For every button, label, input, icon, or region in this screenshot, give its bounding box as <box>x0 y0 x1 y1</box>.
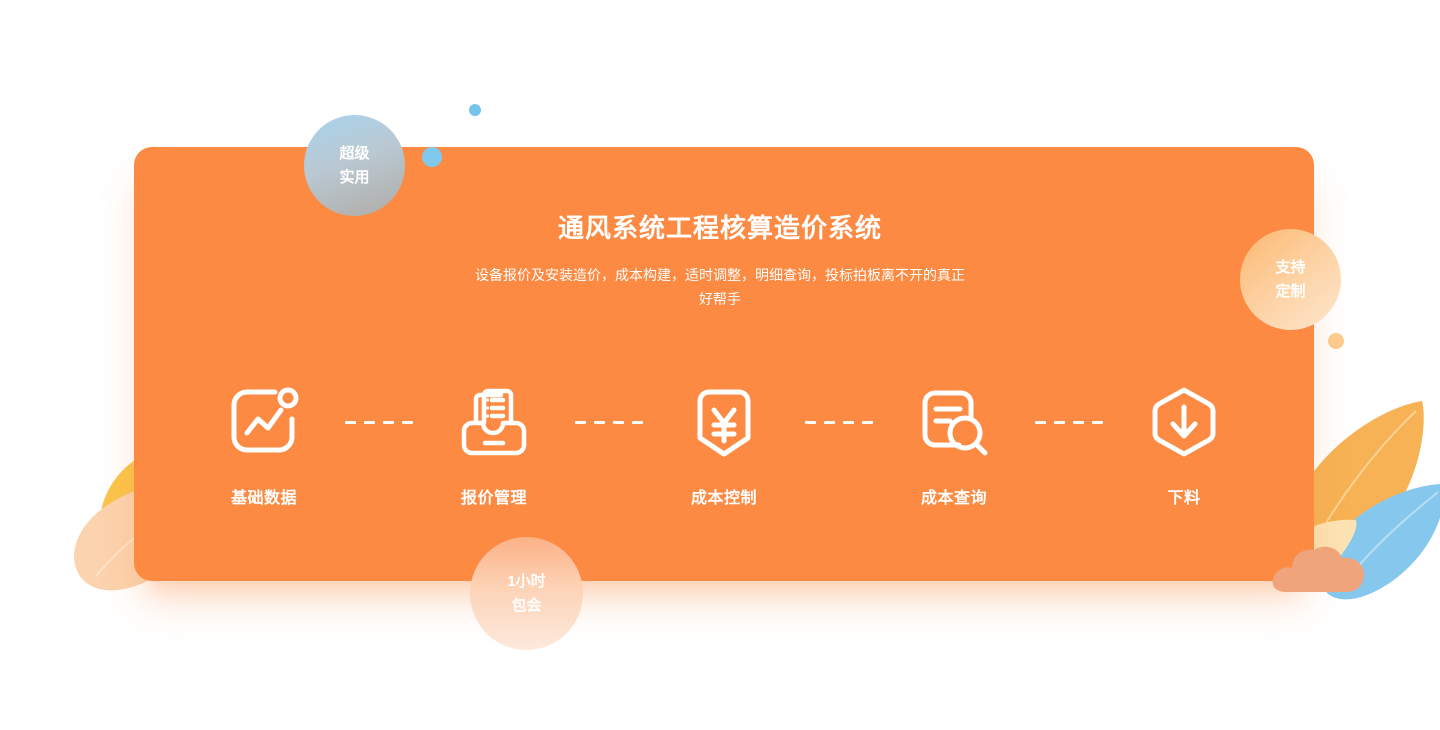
feature-label: 基础数据 <box>231 484 297 508</box>
feature-item-cost-control[interactable]: 成本控制 <box>649 378 799 508</box>
feature-item-quote-management[interactable]: 报价管理 <box>419 378 569 508</box>
feature-item-basic-data[interactable]: 基础数据 <box>189 378 339 508</box>
badge-line-2: 实用 <box>339 166 369 189</box>
connector-4 <box>1029 378 1109 466</box>
feature-label: 下料 <box>1167 484 1200 508</box>
feature-item-cost-query[interactable]: 成本查询 <box>879 378 1029 508</box>
hexagon-download-icon <box>1140 378 1228 466</box>
inbox-document-icon <box>450 378 538 466</box>
feature-label: 报价管理 <box>461 484 527 508</box>
badge-super-practical: 超级 实用 <box>304 115 405 216</box>
feature-label: 成本查询 <box>921 484 987 508</box>
orange-dot-icon <box>1328 333 1344 349</box>
page-title: 通风系统工程核算造价系统 <box>0 211 1440 245</box>
leaf-right-blue <box>1310 478 1440 608</box>
feature-item-cutting[interactable]: 下料 <box>1109 378 1259 508</box>
badge-line-2: 包会 <box>511 594 541 617</box>
badge-line-1: 超级 <box>339 142 369 165</box>
chart-square-icon <box>220 378 308 466</box>
badge-line-1: 支持 <box>1275 256 1305 279</box>
connector-1 <box>339 378 419 466</box>
connector-2 <box>569 378 649 466</box>
document-search-icon <box>910 378 998 466</box>
yuan-shield-icon <box>680 378 768 466</box>
connector-3 <box>799 378 879 466</box>
page-subtitle: 设备报价及安装造价，成本构建，适时调整，明细查询，投标拍板离不开的真正好帮手 <box>470 263 970 311</box>
blue-dot-small-icon <box>469 104 481 116</box>
blue-dot-large-icon <box>422 147 442 167</box>
feature-label: 成本控制 <box>691 484 757 508</box>
badge-line-2: 定制 <box>1275 280 1305 303</box>
badge-line-1: 1小时 <box>507 570 545 593</box>
feature-list: 基础数据 报价管理 <box>134 378 1314 528</box>
badge-supports-customization: 支持 定制 <box>1240 229 1341 330</box>
badge-one-hour-mastery: 1小时 包会 <box>470 537 583 650</box>
hero-banner: 通风系统工程核算造价系统 设备报价及安装造价，成本构建，适时调整，明细查询，投标… <box>0 0 1440 730</box>
